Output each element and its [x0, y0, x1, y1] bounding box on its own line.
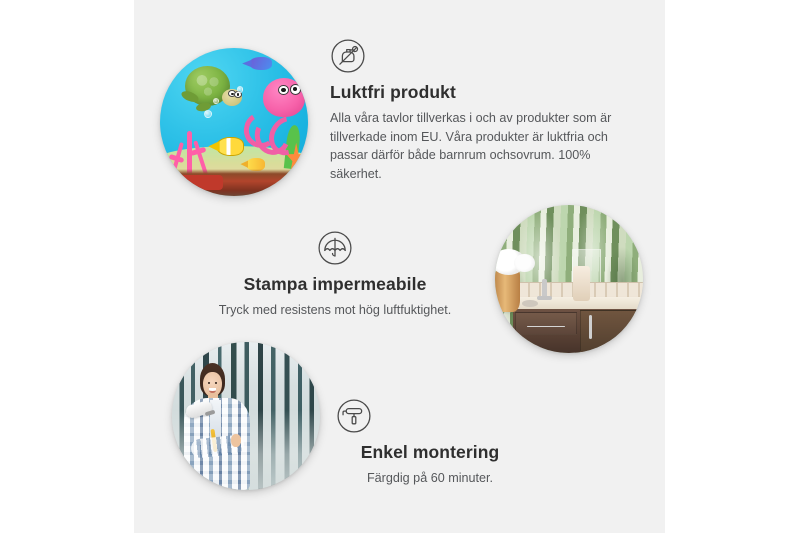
feature-body: Alla våra tavlor tillverkas i och av pro… [330, 109, 630, 183]
vanity-door [580, 310, 637, 352]
feature-easy: Enkel montering Färgdig på 60 minuter. [300, 398, 560, 488]
octopus-icon [243, 78, 305, 149]
feature-title: Luktfri produkt [330, 82, 630, 103]
woman-figure [181, 363, 267, 490]
feature-body: Färgdig på 60 minuter. [300, 469, 560, 488]
feature-body: Tryck med resistens mot hög luftfuktighe… [200, 301, 470, 320]
feature-title: Stampa impermeabile [200, 274, 470, 295]
umbrella-icon [317, 230, 353, 266]
woman-paint-roller-forest-circle-image [172, 342, 320, 490]
feature-waterproof: Stampa impermeabile Tryck med resistens … [200, 230, 470, 320]
feature-odorless: Luktfri produkt Alla våra tavlor tillver… [330, 38, 630, 183]
underwater-cartoon-circle-image [160, 48, 308, 196]
promo-feature-graphic: Luktfri produkt Alla våra tavlor tillver… [0, 0, 800, 533]
flower-icon [495, 249, 525, 274]
vanity-cabinet [513, 309, 643, 353]
vase-icon [495, 270, 520, 311]
no-fragrance-spray-icon [330, 38, 366, 74]
blue-fish-icon [249, 57, 273, 70]
bathroom-botanical-circle-image [495, 205, 643, 353]
yellow-fish-icon [216, 137, 244, 156]
faucet-icon [542, 279, 546, 300]
feature-title: Enkel montering [300, 442, 560, 463]
candle-icon [573, 266, 589, 302]
turtle-icon [181, 66, 240, 116]
vanity-drawer [515, 312, 577, 335]
soap-dish-icon [522, 300, 538, 307]
paint-roller-icon [336, 398, 372, 434]
photo-bottom-strip [160, 169, 308, 196]
